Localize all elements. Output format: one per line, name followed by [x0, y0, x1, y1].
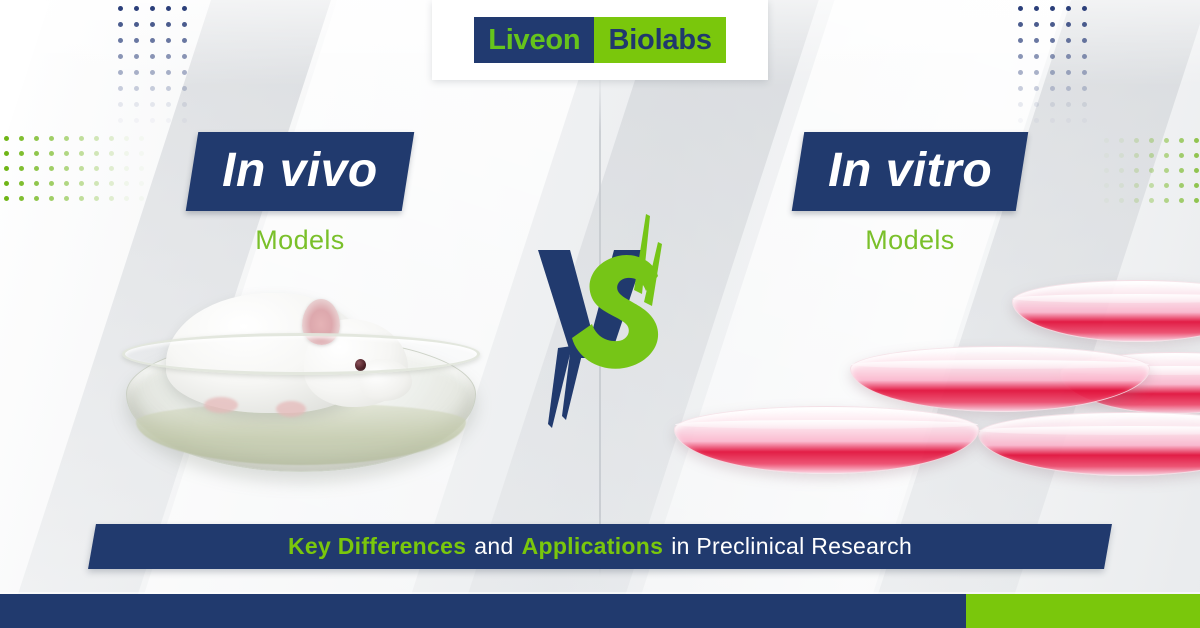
banner-applications: Applications	[522, 533, 664, 560]
petri-lid-line	[979, 426, 1200, 435]
decorative-dot	[134, 118, 139, 123]
bottom-banner: Key Differences and Applications in Prec…	[92, 524, 1108, 569]
decorative-dot	[1119, 168, 1124, 173]
decorative-dot	[1164, 198, 1169, 203]
decorative-dot	[49, 196, 54, 201]
decorative-dot	[134, 22, 139, 27]
decorative-dot	[166, 70, 171, 75]
decorative-dot	[1066, 38, 1071, 43]
in-vitro-image-petri-dishes	[660, 278, 1200, 493]
decorative-dot	[182, 54, 187, 59]
decorative-dot	[1082, 22, 1087, 27]
decorative-dot	[1066, 22, 1071, 27]
mouse-paw-rear	[276, 401, 306, 417]
petri-lid-line	[851, 360, 1149, 369]
decorative-dot	[1179, 153, 1184, 158]
banner-and: and	[474, 533, 513, 560]
decorative-dot	[34, 166, 39, 171]
decorative-dot	[64, 151, 69, 156]
footer-bar-green	[966, 594, 1200, 628]
decorative-dot	[4, 181, 9, 186]
dot-grid-top-left	[118, 6, 198, 134]
decorative-dot	[166, 54, 171, 59]
banner-tail: in Preclinical Research	[671, 533, 912, 560]
petri-dish-front-left	[674, 406, 979, 474]
decorative-dot	[64, 136, 69, 141]
decorative-dot	[49, 136, 54, 141]
decorative-dot	[1018, 22, 1023, 27]
decorative-dot	[1104, 153, 1109, 158]
decorative-dot	[109, 136, 114, 141]
decorative-dot	[109, 166, 114, 171]
decorative-dot	[166, 22, 171, 27]
decorative-dot	[1034, 86, 1039, 91]
decorative-dot	[134, 70, 139, 75]
decorative-dot	[1050, 70, 1055, 75]
decorative-dot	[79, 181, 84, 186]
decorative-dot	[34, 136, 39, 141]
in-vitro-title-text: In vitro	[828, 143, 992, 198]
decorative-dot	[64, 166, 69, 171]
mouse-paw-front	[204, 397, 238, 413]
decorative-dot	[49, 151, 54, 156]
decorative-dot	[166, 102, 171, 107]
decorative-dot	[1050, 22, 1055, 27]
decorative-dot	[1119, 198, 1124, 203]
decorative-dot	[94, 151, 99, 156]
decorative-dot	[1149, 168, 1154, 173]
decorative-dot	[1018, 118, 1023, 123]
decorative-dot	[150, 22, 155, 27]
decorative-dot	[1050, 6, 1055, 11]
decorative-dot	[94, 166, 99, 171]
decorative-dot	[79, 151, 84, 156]
decorative-dot	[1194, 183, 1199, 188]
decorative-dot	[150, 54, 155, 59]
decorative-dot	[118, 38, 123, 43]
decorative-dot	[19, 151, 24, 156]
right-title-block: In vitro Models	[730, 132, 1090, 256]
poster-canvas: Liveon Biolabs In vivo Models In vitro M…	[0, 0, 1200, 628]
decorative-dot	[1134, 138, 1139, 143]
decorative-dot	[94, 196, 99, 201]
petri-dish-front-right	[978, 412, 1200, 476]
decorative-dot	[1082, 6, 1087, 11]
decorative-dot	[1194, 198, 1199, 203]
decorative-dot	[109, 196, 114, 201]
decorative-dot	[94, 181, 99, 186]
decorative-dot	[150, 38, 155, 43]
decorative-dot	[109, 151, 114, 156]
decorative-dot	[1050, 86, 1055, 91]
decorative-dot	[1194, 168, 1199, 173]
decorative-dot	[1082, 38, 1087, 43]
decorative-dot	[1034, 118, 1039, 123]
decorative-dot	[182, 118, 187, 123]
decorative-dot	[118, 70, 123, 75]
decorative-dot	[1050, 102, 1055, 107]
decorative-dot	[118, 118, 123, 123]
decorative-dot	[1179, 183, 1184, 188]
decorative-dot	[1134, 183, 1139, 188]
decorative-dot	[118, 22, 123, 27]
decorative-dot	[182, 70, 187, 75]
brand-logo-card[interactable]: Liveon Biolabs	[432, 0, 768, 80]
decorative-dot	[1149, 183, 1154, 188]
decorative-dot	[19, 181, 24, 186]
decorative-dot	[34, 181, 39, 186]
decorative-dot	[1034, 6, 1039, 11]
in-vivo-title-plate: In vivo	[186, 132, 414, 211]
decorative-dot	[166, 6, 171, 11]
decorative-dot	[64, 196, 69, 201]
dish-rim	[122, 333, 480, 375]
petri-dish-back-top	[1012, 280, 1200, 342]
decorative-dot	[1194, 153, 1199, 158]
decorative-dot	[1066, 102, 1071, 107]
decorative-dot	[4, 151, 9, 156]
decorative-dot	[182, 102, 187, 107]
decorative-dot	[118, 6, 123, 11]
decorative-dot	[166, 118, 171, 123]
petri-lid-line	[675, 420, 978, 429]
in-vitro-title-plate: In vitro	[792, 132, 1029, 211]
decorative-dot	[134, 6, 139, 11]
decorative-dot	[19, 166, 24, 171]
logo-word-liveon: Liveon	[474, 17, 594, 63]
decorative-dot	[150, 102, 155, 107]
decorative-dot	[49, 181, 54, 186]
decorative-dot	[166, 86, 171, 91]
decorative-dot	[1066, 118, 1071, 123]
decorative-dot	[1066, 70, 1071, 75]
decorative-dot	[1164, 183, 1169, 188]
decorative-dot	[79, 166, 84, 171]
decorative-dot	[134, 54, 139, 59]
footer-bar-navy	[0, 594, 995, 628]
decorative-dot	[34, 151, 39, 156]
decorative-dot	[1104, 183, 1109, 188]
petri-lid-line	[1013, 294, 1200, 303]
decorative-dot	[118, 102, 123, 107]
dot-grid-top-right	[1018, 6, 1098, 134]
decorative-dot	[1164, 138, 1169, 143]
decorative-dot	[49, 166, 54, 171]
decorative-dot	[118, 54, 123, 59]
decorative-dot	[1018, 102, 1023, 107]
decorative-dot	[1149, 153, 1154, 158]
decorative-dot	[1164, 168, 1169, 173]
decorative-dot	[1050, 38, 1055, 43]
decorative-dot	[79, 136, 84, 141]
logo-wrap: Liveon Biolabs	[474, 17, 726, 63]
decorative-dot	[1050, 118, 1055, 123]
decorative-dot	[1018, 86, 1023, 91]
decorative-dot	[1082, 102, 1087, 107]
in-vivo-title-text: In vivo	[222, 143, 378, 198]
decorative-dot	[1034, 54, 1039, 59]
decorative-dot	[1018, 54, 1023, 59]
decorative-dot	[150, 70, 155, 75]
decorative-dot	[4, 136, 9, 141]
decorative-dot	[34, 196, 39, 201]
decorative-dot	[19, 196, 24, 201]
decorative-dot	[134, 86, 139, 91]
decorative-dot	[1082, 118, 1087, 123]
decorative-dot	[1179, 198, 1184, 203]
decorative-dot	[109, 181, 114, 186]
decorative-dot	[1018, 6, 1023, 11]
decorative-dot	[1104, 198, 1109, 203]
logo-word-biolabs: Biolabs	[594, 17, 725, 63]
in-vitro-subtitle: Models	[730, 225, 1090, 256]
decorative-dot	[1164, 153, 1169, 158]
decorative-dot	[150, 86, 155, 91]
decorative-dot	[1018, 38, 1023, 43]
decorative-dot	[1179, 168, 1184, 173]
decorative-dot	[1050, 54, 1055, 59]
left-title-block: In vivo Models	[120, 132, 480, 256]
decorative-dot	[1082, 70, 1087, 75]
decorative-dot	[182, 38, 187, 43]
decorative-dot	[1034, 70, 1039, 75]
decorative-dot	[19, 136, 24, 141]
decorative-dot	[64, 181, 69, 186]
decorative-dot	[1018, 70, 1023, 75]
decorative-dot	[118, 86, 123, 91]
decorative-dot	[134, 38, 139, 43]
decorative-dot	[1066, 6, 1071, 11]
decorative-dot	[1194, 138, 1199, 143]
decorative-dot	[1104, 138, 1109, 143]
decorative-dot	[1149, 138, 1154, 143]
dot-grid-mid-right	[1104, 138, 1200, 213]
decorative-dot	[1034, 102, 1039, 107]
decorative-dot	[182, 22, 187, 27]
decorative-dot	[1179, 138, 1184, 143]
decorative-dot	[1134, 168, 1139, 173]
decorative-dot	[1119, 138, 1124, 143]
decorative-dot	[4, 196, 9, 201]
decorative-dot	[150, 118, 155, 123]
decorative-dot	[1034, 22, 1039, 27]
decorative-dot	[1066, 86, 1071, 91]
decorative-dot	[1066, 54, 1071, 59]
decorative-dot	[4, 166, 9, 171]
decorative-dot	[182, 6, 187, 11]
decorative-dot	[1119, 153, 1124, 158]
decorative-dot	[150, 6, 155, 11]
decorative-dot	[1082, 54, 1087, 59]
decorative-dot	[1104, 168, 1109, 173]
in-vivo-subtitle: Models	[120, 225, 480, 256]
decorative-dot	[134, 102, 139, 107]
decorative-dot	[94, 136, 99, 141]
decorative-dot	[1082, 86, 1087, 91]
banner-key-differences: Key Differences	[288, 533, 466, 560]
decorative-dot	[1134, 153, 1139, 158]
decorative-dot	[1119, 183, 1124, 188]
decorative-dot	[166, 38, 171, 43]
decorative-dot	[182, 86, 187, 91]
decorative-dot	[1034, 38, 1039, 43]
in-vivo-image-mouse-in-dish	[108, 275, 498, 490]
decorative-dot	[1134, 198, 1139, 203]
decorative-dot	[1149, 198, 1154, 203]
decorative-dot	[79, 196, 84, 201]
